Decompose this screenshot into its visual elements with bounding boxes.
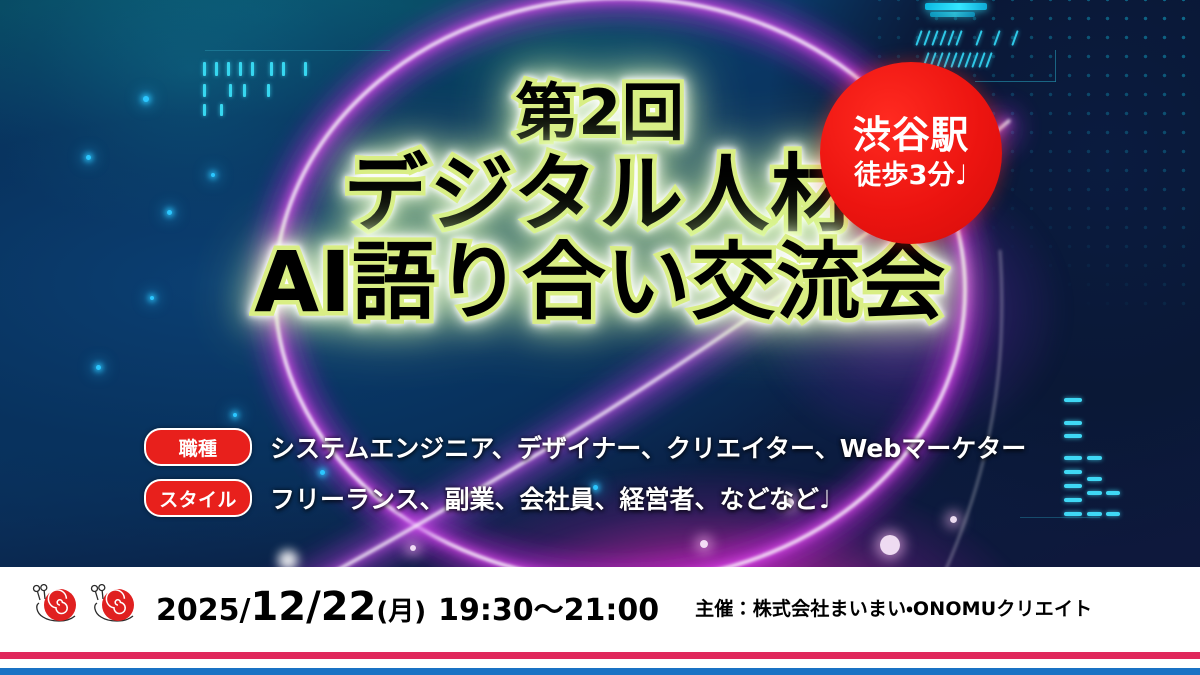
- title-line-3: AI語り合い交流会: [0, 240, 1200, 324]
- stripe-blue: [0, 668, 1200, 675]
- snail-icon: [88, 584, 140, 630]
- info-row: 職種 システムエンジニア、デザイナー、クリエイター、Webマーケター: [144, 428, 1026, 466]
- bracket-vertical: [1055, 50, 1056, 82]
- station-badge: 渋谷駅 徒歩3分♩: [820, 62, 1002, 244]
- date-weekday: (月): [376, 599, 426, 625]
- slash-cluster-1: [918, 30, 1088, 46]
- info-label-text: スタイル: [159, 485, 237, 512]
- event-time: 19:30〜21:00: [438, 596, 659, 626]
- info-label-pill: 職種: [144, 428, 252, 466]
- info-label-text: 職種: [179, 434, 218, 461]
- particle-dot: [96, 365, 101, 370]
- bokeh-dot: [410, 545, 416, 551]
- snail-logo-group: [30, 584, 140, 630]
- host-organizer: 主催：株式会社まいまい・ONOMUクリエイト: [695, 594, 1092, 621]
- badge-station-name: 渋谷駅: [853, 116, 969, 156]
- stripe-pink: [0, 652, 1200, 659]
- snail-icon: [30, 584, 82, 630]
- info-row: スタイル フリーランス、副業、会社員、経営者、などなど♩: [144, 479, 1026, 517]
- event-datetime: 2025/ 12/22 (月) 19:30〜21:00: [156, 587, 659, 627]
- date-year: 2025/: [156, 596, 250, 626]
- info-value-text: システムエンジニア、デザイナー、クリエイター、Webマーケター: [270, 429, 1026, 465]
- title-line-2: デジタル人材: [0, 152, 1200, 236]
- info-label-pill: スタイル: [144, 479, 252, 517]
- footer-bar: 2025/ 12/22 (月) 19:30〜21:00 主催：株式会社まいまい・…: [0, 567, 1200, 675]
- particle-dot: [233, 413, 237, 417]
- bokeh-dot: [880, 535, 900, 555]
- slash-cluster-2: [925, 52, 1100, 68]
- info-value-text: フリーランス、副業、会社員、経営者、などなど♩: [270, 480, 831, 516]
- cyan-bar: [925, 3, 987, 10]
- tick-cluster-top-left: [203, 62, 323, 76]
- hairline-top-left: [205, 50, 390, 51]
- poster-title: 第2回 デジタル人材 AI語り合い交流会: [0, 82, 1200, 324]
- cyan-bar-small: [930, 12, 975, 17]
- badge-walk-time: 徒歩3分♩: [854, 161, 968, 191]
- date-monthday: 12/22: [250, 587, 376, 627]
- title-line-1: 第2回: [0, 82, 1200, 144]
- event-poster: 第2回 デジタル人材 AI語り合い交流会 渋谷駅 徒歩3分♩ 職種 システムエン…: [0, 0, 1200, 675]
- hairline-right: [1020, 517, 1100, 518]
- info-list: 職種 システムエンジニア、デザイナー、クリエイター、Webマーケター スタイル …: [144, 428, 1026, 530]
- bokeh-dot: [700, 540, 708, 548]
